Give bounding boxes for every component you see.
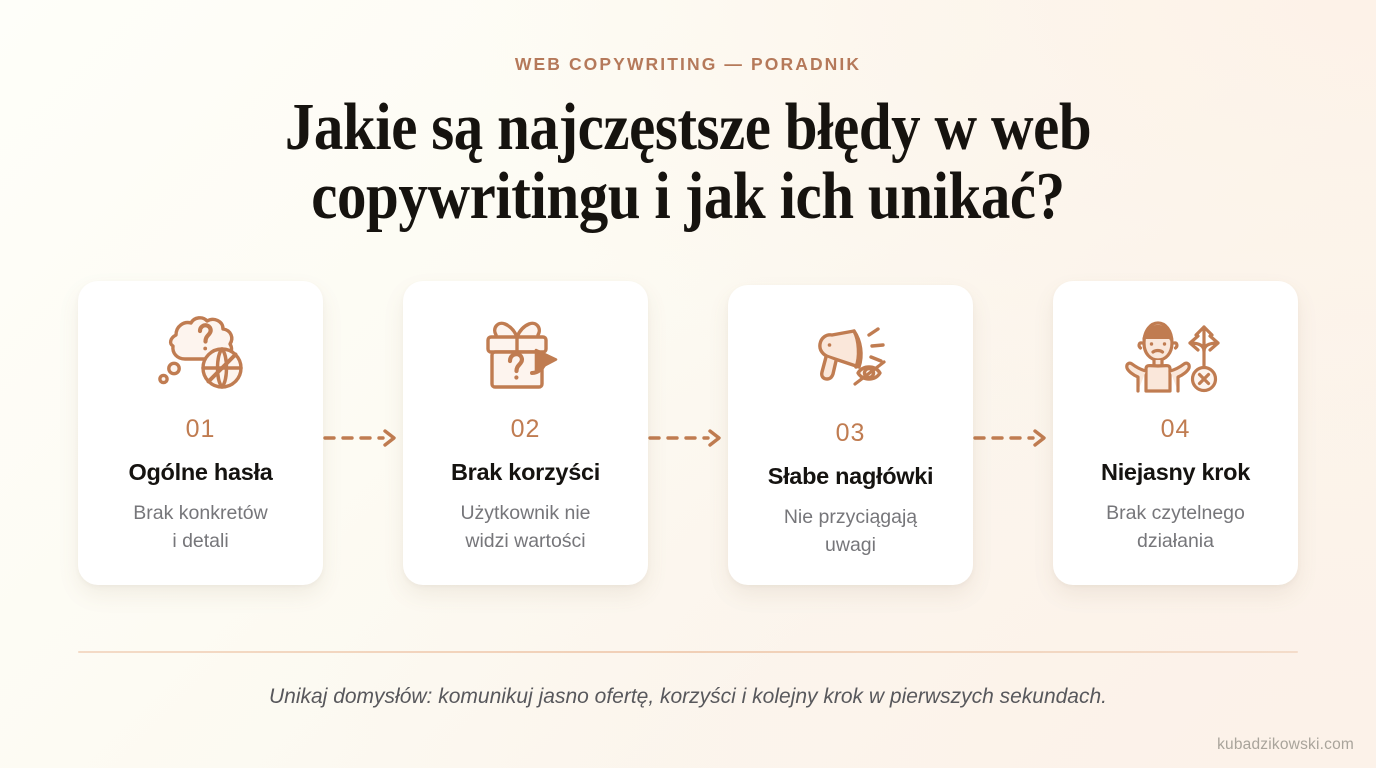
- card-description: Nie przyciągają uwagi: [744, 503, 957, 560]
- connector-3: [973, 281, 1053, 586]
- card-description-line-1: Brak czytelnego: [1106, 502, 1245, 524]
- shrug-person-arrows-cross-icon: [1069, 311, 1282, 403]
- card-04[interactable]: 04 Niejasny krok Brak czytelnego działan…: [1053, 281, 1298, 586]
- card-title: Słabe nagłówki: [744, 463, 957, 490]
- card-description: Brak konkretów i detali: [94, 499, 307, 556]
- dashed-arrow-right-icon: [648, 428, 728, 448]
- thought-bubble-question-globe-icon: [94, 311, 307, 403]
- card-description-line-2: widzi wartości: [465, 530, 585, 552]
- page-title-line-2: copywritingu i jak ich unikać?: [213, 162, 1163, 231]
- card-title: Niejasny krok: [1069, 459, 1282, 486]
- card-02[interactable]: 02 Brak korzyści Użytkownik nie widzi wa…: [403, 281, 648, 586]
- card-description-line-2: i detali: [172, 530, 228, 552]
- card-title: Brak korzyści: [419, 459, 632, 486]
- card-description-line-2: działania: [1137, 530, 1214, 552]
- megaphone-hidden-eye-icon: [744, 315, 957, 407]
- card-number: 04: [1069, 417, 1282, 442]
- cards-row: 01 Ogólne hasła Brak konkretów i detali: [0, 281, 1376, 586]
- card-description-line-1: Użytkownik nie: [460, 502, 590, 524]
- card-description-line-1: Brak konkretów: [133, 502, 267, 524]
- gift-box-question-arrow-icon: [419, 311, 632, 403]
- footer-caption: Unikaj domysłów: komunikuj jasno ofertę,…: [78, 683, 1298, 710]
- connector-1: [323, 281, 403, 586]
- eyebrow-label: WEB COPYWRITING — PORADNIK: [0, 56, 1376, 74]
- footer-spacer: [0, 710, 1376, 768]
- card-description: Brak czytelnego działania: [1069, 499, 1282, 556]
- card-number: 03: [744, 421, 957, 446]
- connector-2: [648, 281, 728, 586]
- card-number: 01: [94, 417, 307, 442]
- page-title-line-1: Jakie są najczęstsze błędy w web: [213, 93, 1163, 162]
- watermark-label: kubadzikowski.com: [1217, 736, 1354, 754]
- card-description: Użytkownik nie widzi wartości: [419, 499, 632, 556]
- footer-divider: [78, 651, 1298, 653]
- card-01[interactable]: 01 Ogólne hasła Brak konkretów i detali: [78, 281, 323, 586]
- card-description-line-1: Nie przyciągają: [784, 506, 917, 528]
- dashed-arrow-right-icon: [973, 428, 1053, 448]
- slide-header: WEB COPYWRITING — PORADNIK Jakie są najc…: [0, 0, 1376, 231]
- slide-root: WEB COPYWRITING — PORADNIK Jakie są najc…: [0, 0, 1376, 768]
- dashed-arrow-right-icon: [323, 428, 403, 448]
- card-description-line-2: uwagi: [825, 534, 876, 556]
- page-title: Jakie są najczęstsze błędy w web copywri…: [213, 93, 1163, 231]
- slide-footer: Unikaj domysłów: komunikuj jasno ofertę,…: [0, 651, 1376, 710]
- card-number: 02: [419, 417, 632, 442]
- card-03[interactable]: 03 Słabe nagłówki Nie przyciągają uwagi: [728, 285, 973, 586]
- card-title: Ogólne hasła: [94, 459, 307, 486]
